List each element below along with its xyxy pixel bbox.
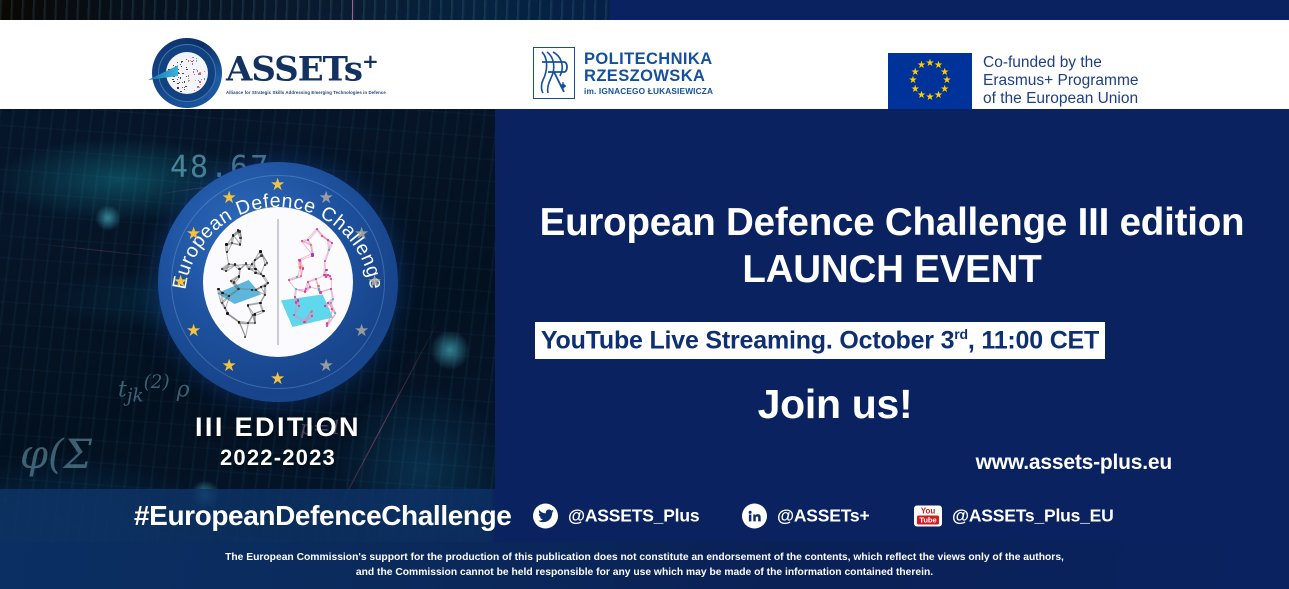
european-union-flag-icon: ★★★★★★★★★★★★	[888, 53, 972, 109]
poster-root: 48.67 tjk(2) ρ φ(Σ p=1 ASSETs+ Alli	[0, 0, 1289, 589]
social-link-youtube[interactable]: You Tube @ASSETs_Plus_EU	[914, 505, 1114, 526]
youtube-badge-bottom: Tube	[917, 515, 938, 524]
politechnika-line-1: POLITECHNIKA	[584, 51, 713, 68]
european-defence-challenge-badge-icon: European Defence Challenge ★★★★★★★★★★★★	[158, 162, 398, 402]
eu-cofunding-text: Co-funded by the Erasmus+ Programme of t…	[983, 54, 1138, 109]
title-line-2: LAUNCH EVENT	[495, 247, 1289, 294]
decor-pink-line	[352, 0, 353, 20]
social-footer-bar: #EuropeanDefenceChallenge @ASSETS_Plus @…	[0, 489, 1289, 542]
twitter-handle[interactable]: @ASSETS_Plus	[568, 505, 699, 526]
linkedin-icon[interactable]	[742, 503, 767, 528]
assets-plus-logo: ASSETs+ Alliance for Strategic Skills Ad…	[152, 38, 386, 108]
youtube-icon[interactable]: You Tube	[914, 505, 942, 526]
politechnika-line-3: im. IGNACEGO ŁUKASIEWICZA	[584, 87, 713, 96]
eu-line-1: Co-funded by the	[983, 54, 1138, 72]
politechnika-line-2: RZESZOWSKA	[584, 68, 713, 85]
page-title: European Defence Challenge III edition L…	[495, 200, 1289, 294]
join-us-callout: Join us!	[495, 381, 1175, 428]
title-line-1: European Defence Challenge III edition	[495, 200, 1289, 247]
event-hashtag: #EuropeanDefenceChallenge	[134, 500, 511, 532]
assets-plus-tagline: Alliance for Strategic Skills Addressing…	[226, 90, 386, 95]
disclaimer-bar: The European Commission's support for th…	[0, 542, 1289, 589]
decor-streak	[30, 243, 169, 259]
politechnika-rzeszowska-crest-icon	[533, 47, 575, 99]
badge-edition-label: III EDITION	[155, 412, 401, 443]
social-link-linkedin[interactable]: @ASSETs+	[742, 503, 869, 528]
stream-info-text: YouTube Live Streaming. October 3rd, 11:…	[541, 326, 1099, 355]
european-defence-challenge-badge: European Defence Challenge ★★★★★★★★★★★★ …	[158, 162, 448, 402]
eu-line-3: of the European Union	[983, 90, 1138, 108]
assets-plus-logo-icon	[152, 38, 222, 108]
decor-glow	[95, 205, 121, 231]
top-strip	[0, 0, 1289, 20]
assets-plus-wordmark: ASSETs+	[226, 51, 386, 86]
main-content-panel: European Defence Challenge III edition L…	[495, 109, 1289, 489]
decor-math-glyph: φ(Σ	[20, 432, 92, 478]
politechnika-rzeszowska-logo: POLITECHNIKA RZESZOWSKA im. IGNACEGO ŁUK…	[533, 47, 713, 99]
top-strip-texture	[0, 0, 610, 20]
website-url[interactable]: www.assets-plus.eu	[976, 451, 1172, 475]
youtube-badge-top: You	[921, 507, 936, 515]
badge-brain-graphic	[203, 207, 353, 357]
eu-cofunding-logo: ★★★★★★★★★★★★ Co-funded by the Erasmus+ P…	[888, 53, 1138, 109]
disclaimer-text: The European Commission's support for th…	[165, 551, 1125, 581]
disclaimer-line-1: The European Commission's support for th…	[165, 551, 1125, 566]
badge-years-label: 2022-2023	[155, 445, 401, 471]
twitter-icon[interactable]	[533, 503, 558, 528]
stream-info-box: YouTube Live Streaming. October 3rd, 11:…	[533, 320, 1107, 361]
linkedin-handle[interactable]: @ASSETs+	[777, 505, 869, 526]
eu-line-2: Erasmus+ Programme	[983, 72, 1138, 90]
disclaimer-line-2: and the Commission cannot be held respon…	[165, 566, 1125, 581]
youtube-handle[interactable]: @ASSETs_Plus_EU	[952, 505, 1114, 526]
top-strip-navy	[610, 0, 1289, 20]
social-link-twitter[interactable]: @ASSETS_Plus	[533, 503, 699, 528]
logo-header: ASSETs+ Alliance for Strategic Skills Ad…	[0, 20, 1289, 109]
